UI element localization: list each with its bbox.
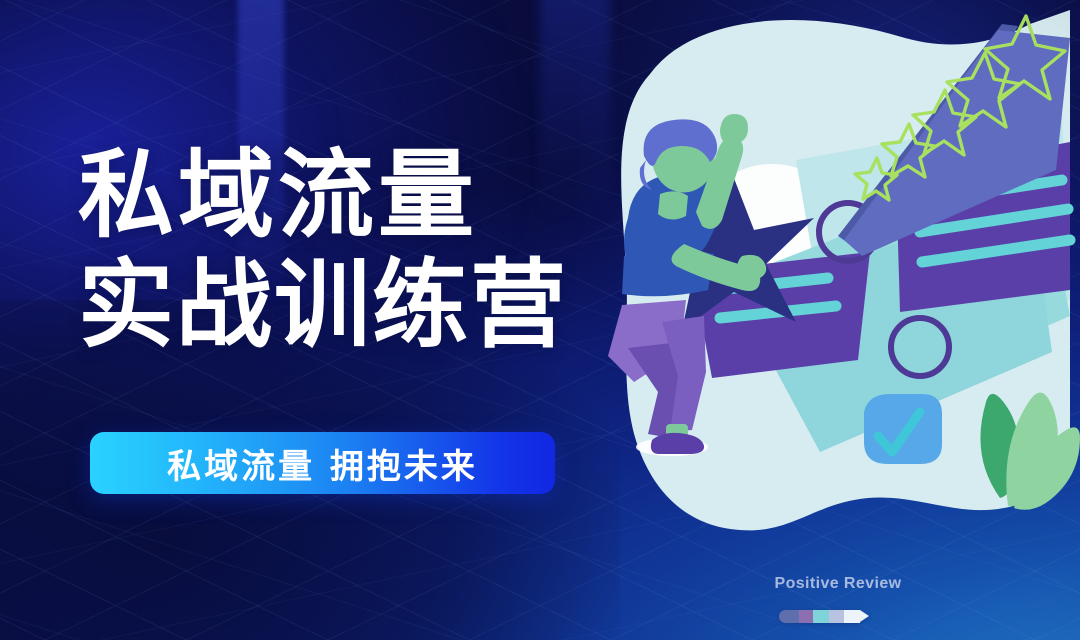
headline-block: 私域流量 实战训练营 (78, 140, 638, 360)
headline-line-1: 私域流量 (78, 140, 638, 250)
caption-label: Positive Review (775, 575, 902, 592)
segment-pale (844, 610, 860, 623)
progress-arrow-tip (860, 610, 869, 622)
headline-line-2: 实战训练营 (78, 250, 638, 360)
tagline-badge[interactable]: 私域流量 拥抱未来 (90, 432, 555, 494)
progress-indicator (779, 610, 869, 623)
segment-teal (813, 610, 829, 623)
caption-block: Positive Review (748, 575, 928, 593)
promotional-banner: 私域流量 实战训练营 私域流量 拥抱未来 Positive Review (0, 0, 1080, 640)
segment-lavender (829, 610, 843, 623)
segment-slate (779, 610, 799, 623)
tagline-badge-label: 私域流量 拥抱未来 (167, 439, 478, 488)
segment-purple (799, 610, 813, 623)
